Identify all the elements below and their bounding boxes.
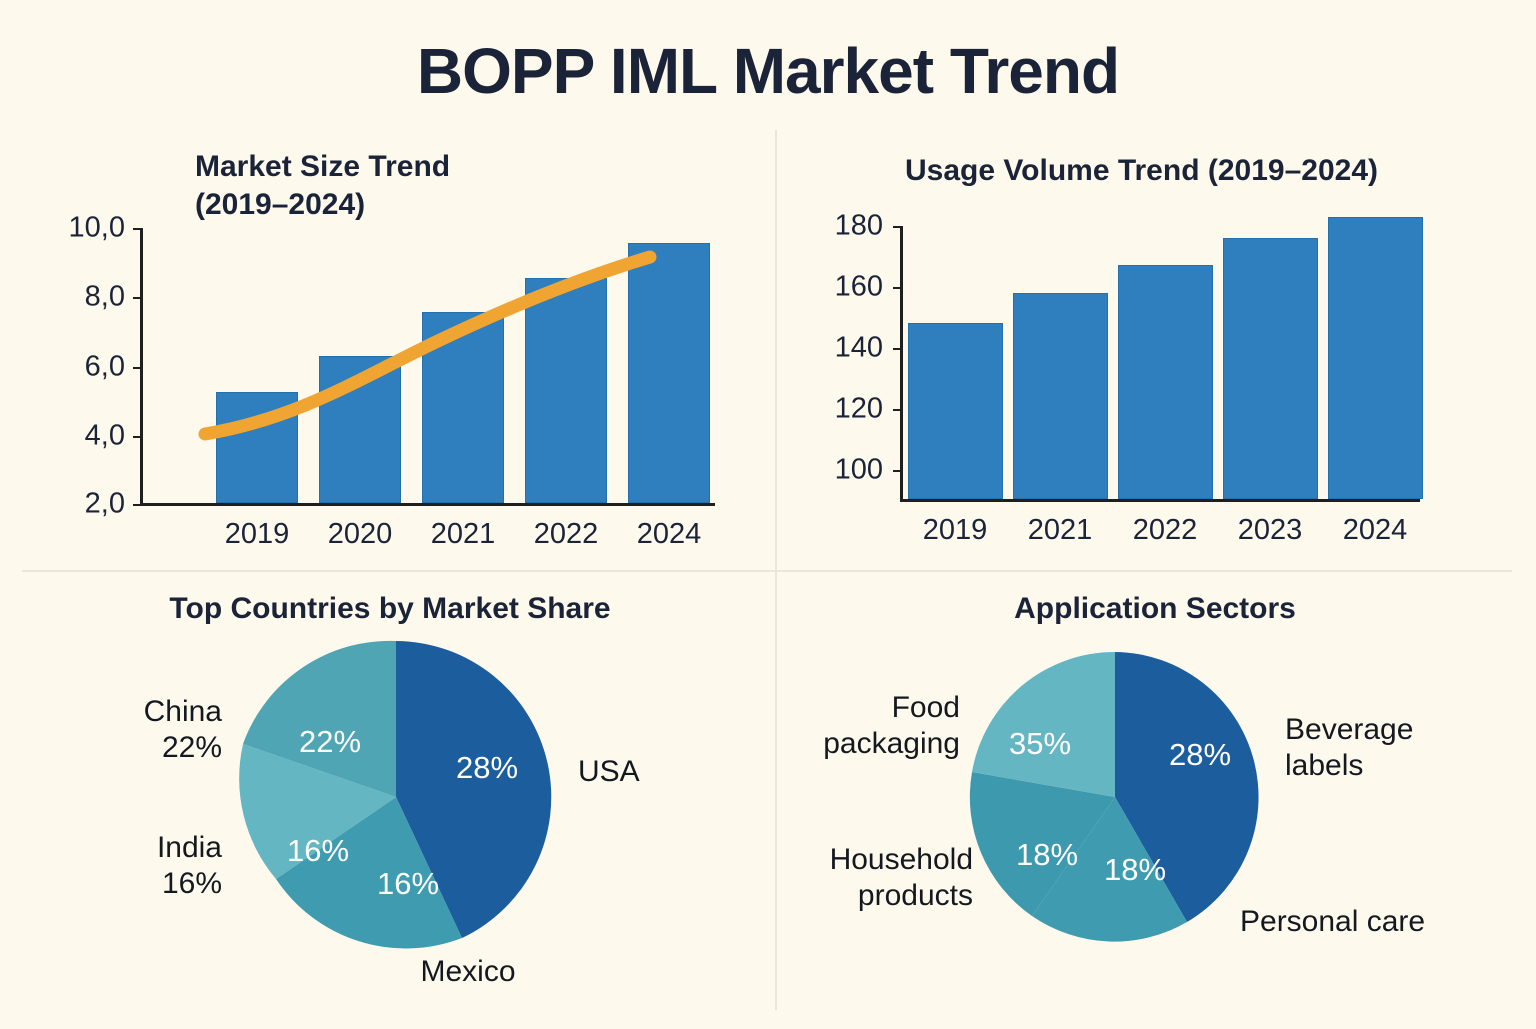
x-axis bbox=[900, 499, 1420, 502]
panel-usage-volume-trend: Usage Volume Trend (2019–2024) 180 160 1… bbox=[775, 130, 1536, 570]
xtick-label: 2022 bbox=[534, 518, 599, 551]
pie-pct-china: 22% bbox=[299, 724, 361, 760]
ytick-mark bbox=[893, 226, 903, 228]
pie-label-personal-care: Personal care bbox=[1240, 904, 1425, 940]
pie-pct-mexico: 16% bbox=[377, 866, 439, 902]
pie-label-mexico: Mexico bbox=[420, 954, 515, 990]
bar-2021 bbox=[1013, 293, 1108, 499]
pie-label-household: Household products bbox=[830, 842, 973, 914]
ytick-label: 140 bbox=[805, 332, 883, 365]
xtick-label: 2024 bbox=[637, 518, 702, 551]
y-axis bbox=[900, 226, 903, 501]
pie-pct-personal-care: 18% bbox=[1104, 852, 1166, 888]
pie-pct-food-packaging: 35% bbox=[1009, 726, 1071, 762]
ytick-label: 160 bbox=[805, 271, 883, 304]
top-countries-pie: 28% 16% 16% 22% China 22% India 16% Mexi… bbox=[0, 572, 775, 1024]
xtick-label: 2021 bbox=[1028, 514, 1093, 547]
pie-label-china: China 22% bbox=[144, 694, 222, 766]
ytick-mark bbox=[893, 348, 903, 350]
pie-svg bbox=[775, 572, 1536, 1024]
ytick-mark bbox=[893, 287, 903, 289]
ytick-label: 180 bbox=[805, 210, 883, 243]
pie-label-beverage: Beverage labels bbox=[1285, 712, 1413, 784]
ytick-label: 120 bbox=[805, 393, 883, 426]
xtick-label: 2019 bbox=[225, 518, 290, 551]
xtick-label: 2022 bbox=[1133, 514, 1198, 547]
panel-top-countries: Top Countries by Market Share 28% 16% 16… bbox=[0, 572, 775, 1024]
ytick-mark bbox=[893, 470, 903, 472]
bar-2024 bbox=[1328, 217, 1423, 499]
pie-label-food-packaging: Food packaging bbox=[823, 690, 960, 762]
infographic-canvas: BOPP IML Market Trend Market Size Trend … bbox=[0, 0, 1536, 1024]
xtick-label: 2019 bbox=[923, 514, 988, 547]
panel-market-size-trend: Market Size Trend (2019–2024) 10,0 8,0 6… bbox=[0, 130, 775, 570]
xtick-label: 2021 bbox=[431, 518, 496, 551]
xtick-label: 2024 bbox=[1343, 514, 1408, 547]
pie-pct-usa: 28% bbox=[456, 750, 518, 786]
usage-volume-plot: 180 160 140 120 100 2019 2021 2022 2023 … bbox=[775, 130, 1536, 570]
bar-2023 bbox=[1223, 238, 1318, 499]
application-sectors-pie: 28% 18% 18% 35% Food packaging Household… bbox=[775, 572, 1536, 1024]
xtick-label: 2020 bbox=[328, 518, 393, 551]
panel-application-sectors: Application Sectors 28% 18% 18% 35% Food… bbox=[775, 572, 1536, 1024]
bar-2019 bbox=[908, 323, 1003, 499]
bar-2022 bbox=[1118, 265, 1213, 499]
ytick-mark bbox=[893, 409, 903, 411]
pie-pct-household: 18% bbox=[1016, 837, 1078, 873]
xtick-label: 2023 bbox=[1238, 514, 1303, 547]
pie-pct-india: 16% bbox=[287, 833, 349, 869]
trend-line bbox=[0, 130, 775, 570]
pie-svg bbox=[0, 572, 775, 1024]
page-title: BOPP IML Market Trend bbox=[0, 34, 1536, 108]
ytick-label: 100 bbox=[805, 454, 883, 487]
pie-label-india: India 16% bbox=[157, 830, 222, 902]
pie-label-usa: USA bbox=[578, 754, 640, 790]
pie-pct-beverage: 28% bbox=[1169, 737, 1231, 773]
market-size-plot: 10,0 8,0 6,0 4,0 2,0 2019 2020 2021 2022… bbox=[0, 130, 775, 570]
